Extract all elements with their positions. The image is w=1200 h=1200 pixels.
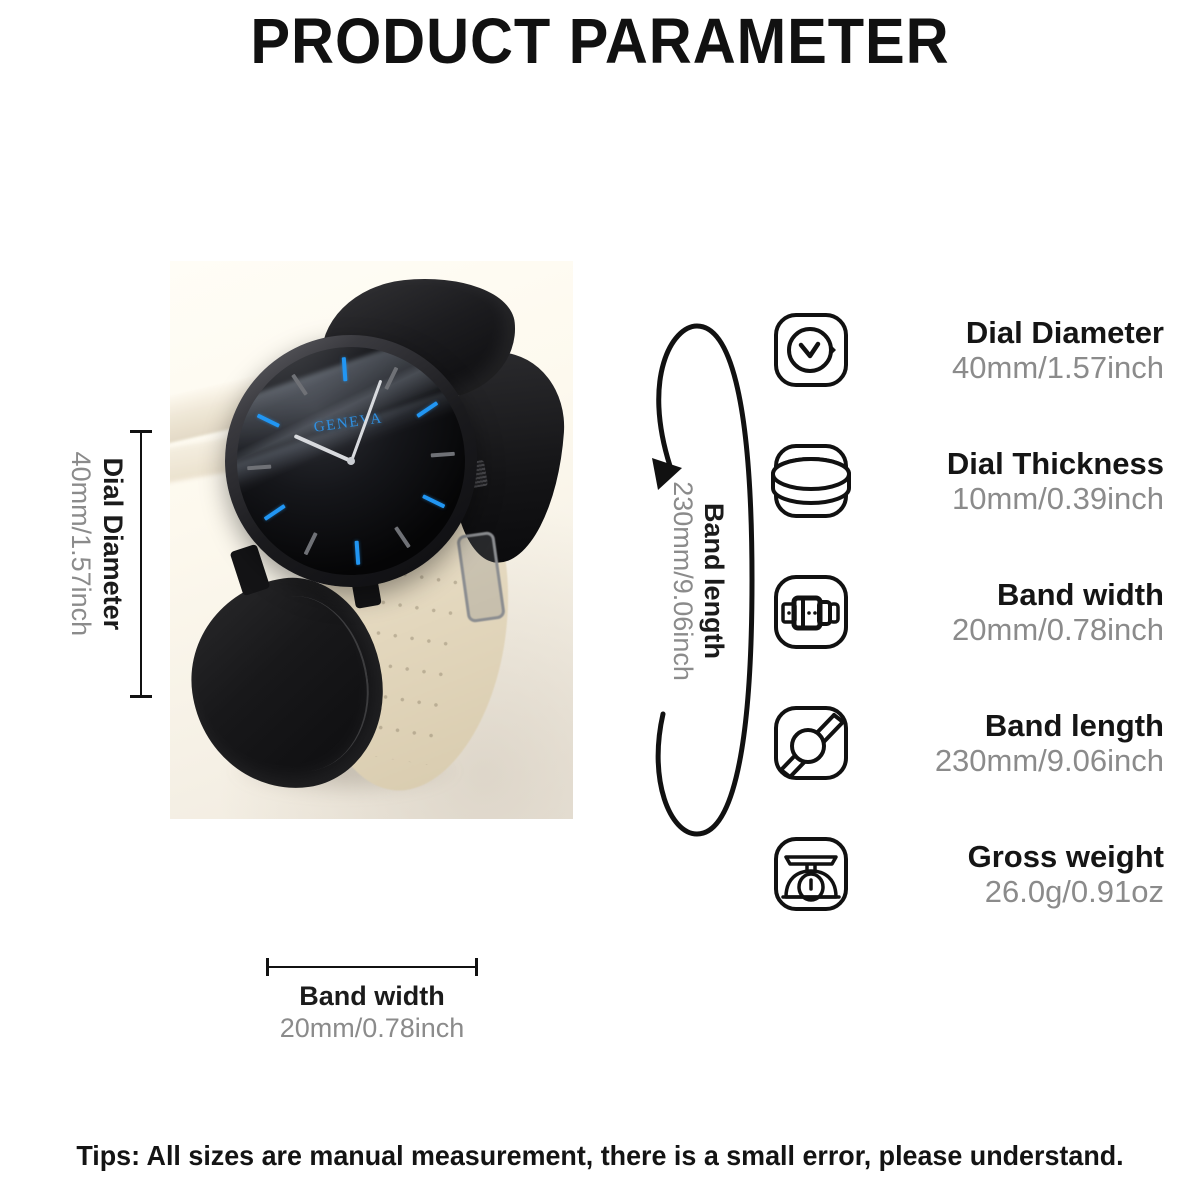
spec-row-gross-weight: Gross weight 26.0g/0.91oz xyxy=(770,824,1170,924)
spec-label: Band length xyxy=(866,708,1164,743)
hour-marker xyxy=(351,452,455,463)
spec-label: Dial Thickness xyxy=(866,446,1164,481)
watch-dial: GENEVA xyxy=(229,339,472,582)
page-title: PRODUCT PARAMETER xyxy=(42,8,1158,75)
band-width-dimension-label: Band width xyxy=(299,981,444,1011)
dial-diameter-dimension-text: Dial Diameter 40mm/1.57inch xyxy=(64,410,128,678)
spec-row-band-width: Band width 20mm/0.78inch xyxy=(770,562,1170,662)
watch-face-icon xyxy=(770,309,852,391)
band-length-dimension-value: 230mm/9.06inch xyxy=(668,481,698,681)
spec-label: Dial Diameter xyxy=(866,315,1164,350)
spec-text-gross-weight: Gross weight 26.0g/0.91oz xyxy=(866,839,1170,909)
spec-text-dial-thickness: Dial Thickness 10mm/0.39inch xyxy=(866,446,1170,516)
band-length-dimension: Band length 230mm/9.06inch xyxy=(636,318,758,842)
dimension-cap-bottom xyxy=(130,695,152,698)
cylinder-icon xyxy=(770,440,852,522)
band-width-dimension-text: Band width 20mm/0.78inch xyxy=(206,980,538,1045)
spec-row-dial-thickness: Dial Thickness 10mm/0.39inch xyxy=(770,431,1170,531)
specification-list: Dial Diameter 40mm/1.57inch Dial Thickne… xyxy=(770,300,1170,924)
spec-text-dial-diameter: Dial Diameter 40mm/1.57inch xyxy=(866,315,1170,385)
tips-note: Tips: All sizes are manual measurement, … xyxy=(24,1140,1176,1172)
band-length-dimension-text: Band length 230mm/9.06inch xyxy=(667,319,729,843)
spec-value: 26.0g/0.91oz xyxy=(866,874,1164,909)
dimension-line xyxy=(266,966,478,968)
spec-label: Gross weight xyxy=(866,839,1164,874)
band-width-dimension-value: 20mm/0.78inch xyxy=(280,1013,465,1043)
spec-value: 20mm/0.78inch xyxy=(866,612,1164,647)
dimension-cap-left xyxy=(266,958,269,976)
spec-value: 10mm/0.39inch xyxy=(866,481,1164,516)
spec-text-band-width: Band width 20mm/0.78inch xyxy=(866,577,1170,647)
dial-diameter-dimension-label: Dial Diameter xyxy=(98,458,128,631)
watch-strap-icon xyxy=(770,702,852,784)
dimension-cap-top xyxy=(130,430,152,433)
kitchen-scale-icon xyxy=(770,833,852,915)
spec-value: 40mm/1.57inch xyxy=(866,350,1164,385)
dial-diameter-dimension: Dial Diameter 40mm/1.57inch xyxy=(46,430,146,698)
watch-clasp-icon xyxy=(770,571,852,653)
dimension-line xyxy=(140,432,142,696)
dial-diameter-dimension-value: 40mm/1.57inch xyxy=(66,452,96,637)
product-photo: GENEVA xyxy=(170,261,573,819)
band-length-dimension-label: Band length xyxy=(699,503,729,659)
dimension-cap-right xyxy=(475,958,478,976)
spec-text-band-length: Band length 230mm/9.06inch xyxy=(866,708,1170,778)
spec-value: 230mm/9.06inch xyxy=(866,743,1164,778)
spec-row-dial-diameter: Dial Diameter 40mm/1.57inch xyxy=(770,300,1170,400)
spec-row-band-length: Band length 230mm/9.06inch xyxy=(770,693,1170,793)
spec-label: Band width xyxy=(866,577,1164,612)
